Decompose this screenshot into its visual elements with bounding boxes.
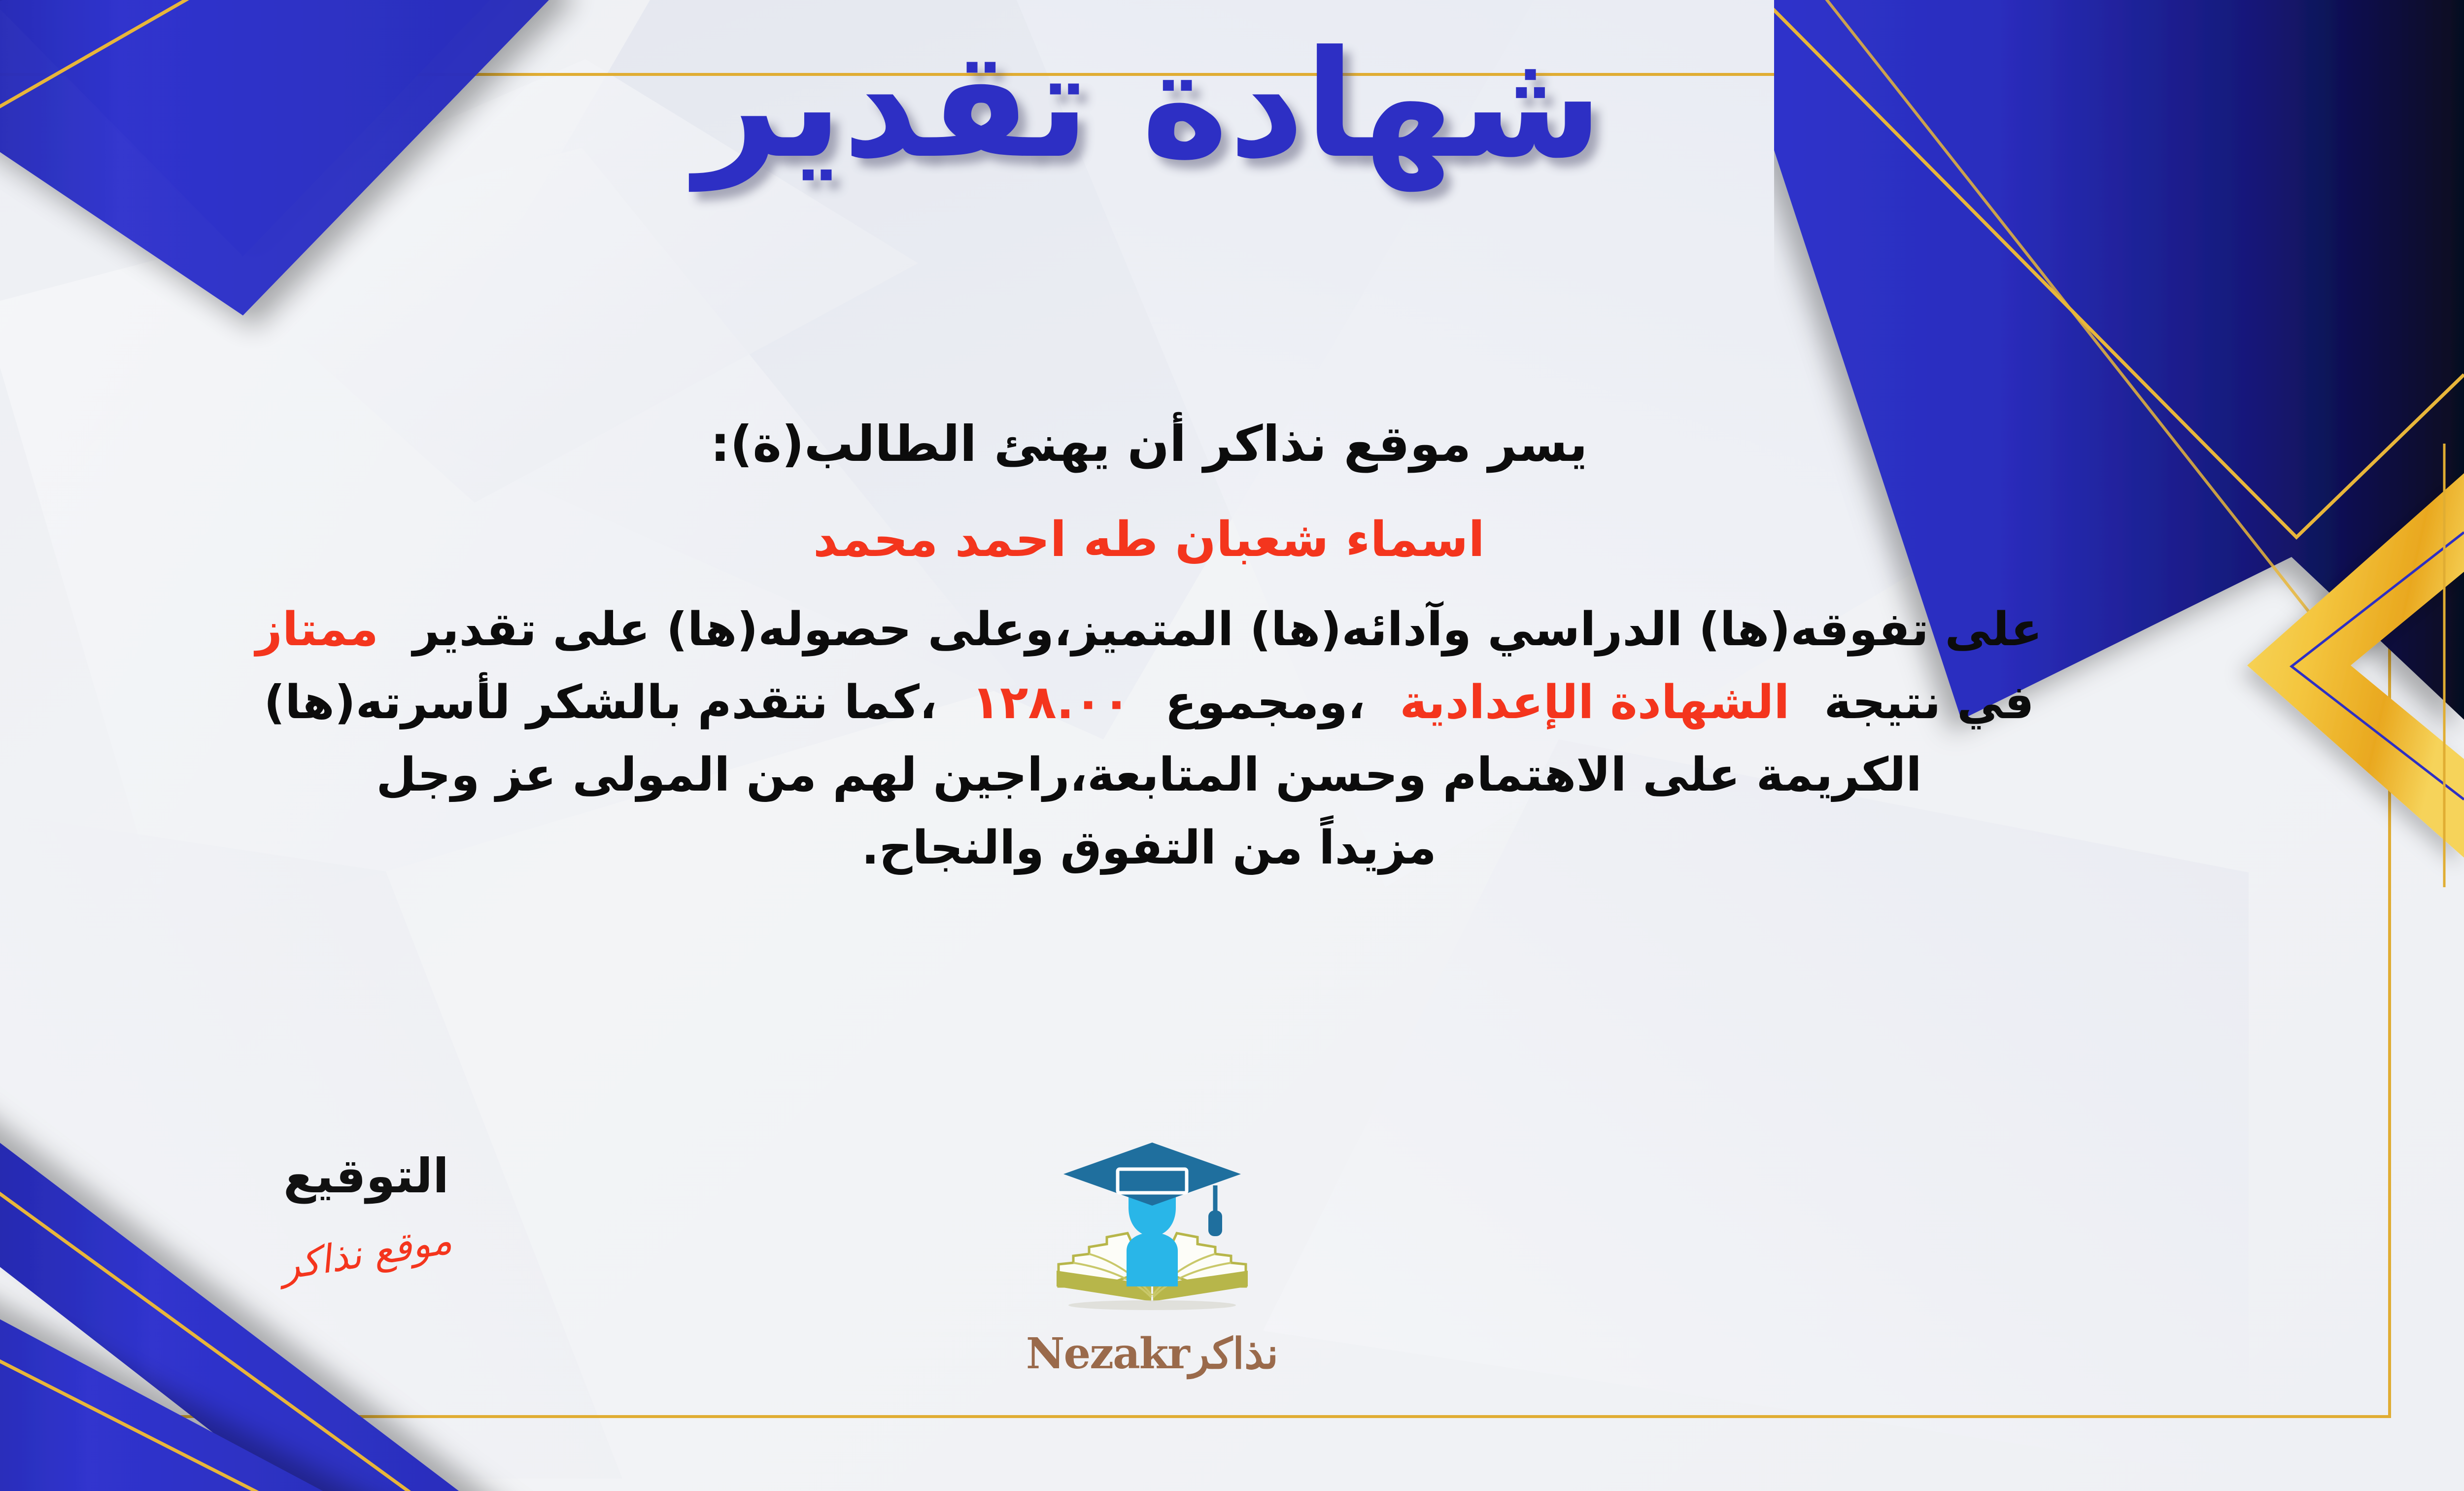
- brand-logo: نذاكرNezakr: [980, 1139, 1325, 1379]
- certificate-page: شهادة تقدير يسر موقع نذاكر أن يهنئ الطال…: [0, 0, 2464, 1491]
- family-line: الكريمة على الاهتمام وحسن المتابعة،راجين…: [0, 742, 2306, 808]
- achievement-text: على تفوقه(ها) الدراسي وآدائه(ها) المتميز…: [413, 603, 2042, 657]
- certificate-body: يسر موقع نذاكر أن يهنئ الطالب(ة): اسماء …: [0, 409, 2306, 881]
- brand-wordmark: نذاكرNezakr: [980, 1329, 1325, 1379]
- intro-line: يسر موقع نذاكر أن يهنئ الطالب(ة):: [0, 409, 2306, 479]
- grade-value: ممتاز: [256, 603, 378, 657]
- certificate-title: شهادة تقدير: [0, 20, 2464, 190]
- result-line: في نتيجةالشهادة الإعدادية،ومجموع١٢٨.٠٠،ك…: [0, 670, 2306, 735]
- student-name: اسماء شعبان طه احمد محمد: [0, 506, 2306, 574]
- result-prefix: في نتيجة: [1824, 676, 2034, 729]
- signature-block: التوقيع موقع نذاكر: [208, 1148, 524, 1276]
- thanks-prefix: ،كما نتقدم بالشكر لأسرته(ها): [264, 676, 937, 729]
- brand-latin: Nezakr: [1026, 1329, 1189, 1379]
- total-prefix: ،ومجموع: [1165, 676, 1365, 729]
- exam-name: الشهادة الإعدادية: [1400, 676, 1789, 729]
- achievement-line: على تفوقه(ها) الدراسي وآدائه(ها) المتميز…: [0, 597, 2306, 662]
- total-value: ١٢٨.٠٠: [972, 676, 1131, 729]
- graduate-book-icon: [1044, 1139, 1261, 1326]
- signature-mark: موقع نذاكر: [277, 1218, 455, 1289]
- certificate-content: شهادة تقدير يسر موقع نذاكر أن يهنئ الطال…: [0, 0, 2464, 1491]
- closing-line: مزيداً من التفوق والنجاح.: [0, 815, 2306, 881]
- brand-arabic: نذاكر: [1189, 1329, 1278, 1379]
- signature-label: التوقيع: [208, 1148, 524, 1204]
